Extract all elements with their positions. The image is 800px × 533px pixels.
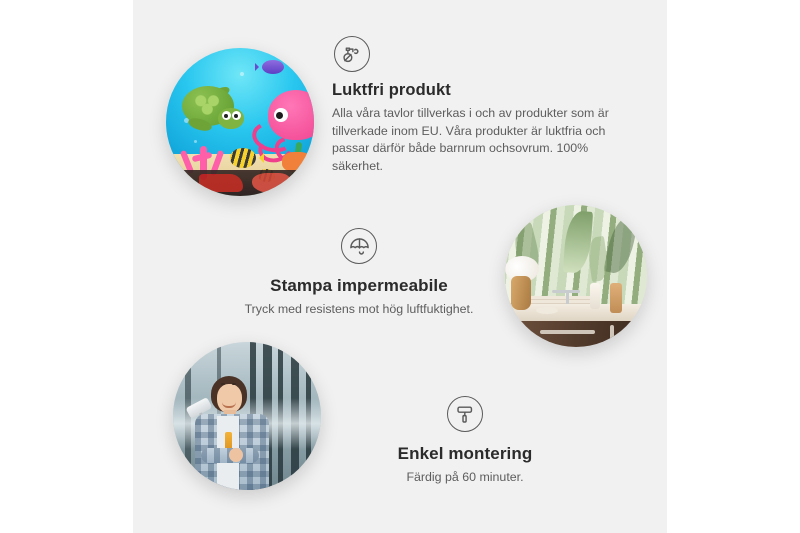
feature-body: Färdig på 60 minuter. (331, 469, 599, 487)
image-woman-with-paint-roller[interactable] (173, 342, 321, 490)
sea-turtle-icon (182, 86, 244, 130)
leaf-icon (562, 210, 592, 274)
bottle (590, 283, 600, 309)
underwater-scene (166, 48, 314, 196)
feature-title: Stampa impermeabile (189, 276, 529, 296)
no-odour-spray-bottle-icon (334, 36, 370, 72)
umbrella-icon (341, 228, 377, 264)
feature-body: Alla våra tavlor tillverkas i och av pro… (332, 105, 632, 175)
fish-icon (262, 60, 284, 74)
feature-title: Enkel montering (331, 444, 599, 464)
bubble-icon (240, 72, 244, 76)
woman-figure (189, 372, 275, 490)
screenshot-root: Luktfri produkt Alla våra tavlor tillver… (0, 0, 800, 533)
product-feature-panel: Luktfri produkt Alla våra tavlor tillver… (133, 0, 667, 533)
feature-title: Luktfri produkt (332, 81, 632, 100)
feature-block-easy-mounting: Enkel montering Färdig på 60 minuter. (331, 396, 599, 486)
feature-body: Tryck med resistens mot hög luftfuktighe… (189, 301, 529, 319)
vanity-cabinet (516, 321, 647, 347)
fish-icon (230, 148, 256, 168)
paint-roller-icon (447, 396, 483, 432)
leaf-icon (586, 235, 610, 281)
leaf-icon (603, 214, 639, 276)
faucet-icon (566, 290, 569, 304)
image-underwater-cartoon-mural[interactable] (166, 48, 314, 196)
bottle (610, 283, 622, 313)
octopus-icon (256, 90, 314, 156)
foreground-shadow-band (166, 170, 314, 196)
starfish-icon (282, 152, 312, 172)
feature-block-odourless: Luktfri produkt Alla våra tavlor tillver… (332, 36, 632, 175)
feature-block-waterproof: Stampa impermeabile Tryck med resistens … (189, 228, 529, 318)
forest-scene (173, 342, 321, 490)
